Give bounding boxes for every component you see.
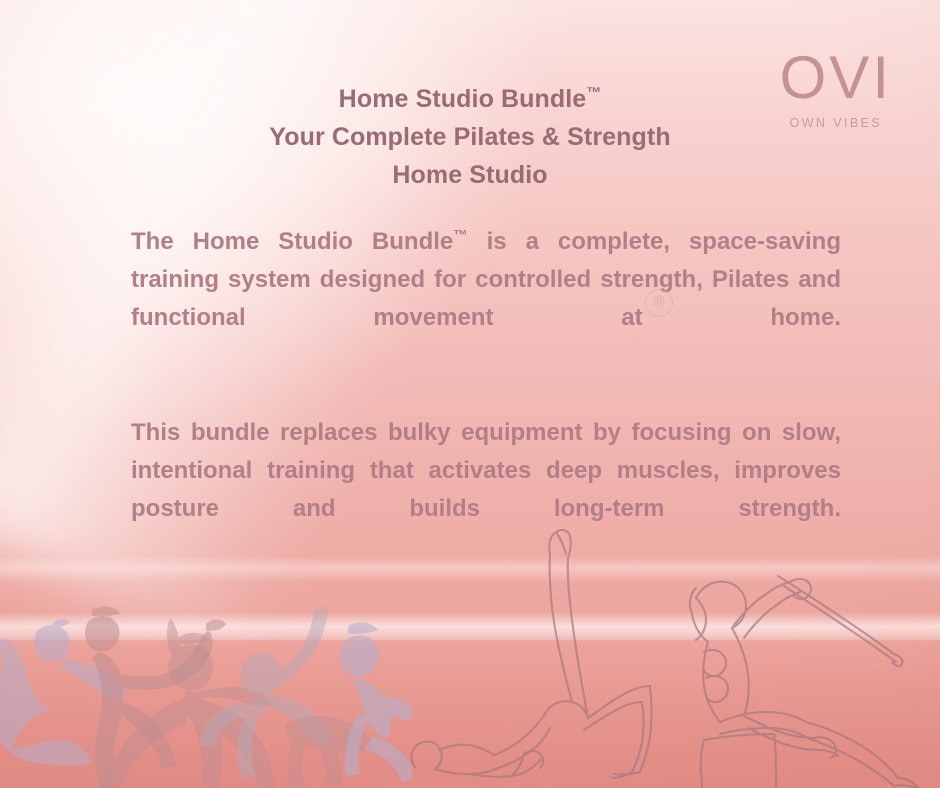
headline-line-3: Home Studio	[0, 156, 940, 194]
trademark-symbol: ™	[586, 85, 601, 102]
headline-line-1: Home Studio Bundle™	[0, 80, 940, 118]
headline-line-1-text: Home Studio Bundle	[339, 85, 587, 113]
trademark-symbol-body: ™	[453, 228, 467, 244]
body-paragraph-2: This bundle replaces bulky equipment by …	[131, 414, 841, 567]
headline: Home Studio Bundle™ Your Complete Pilate…	[0, 80, 940, 194]
registered-mark-watermark: ®	[645, 289, 673, 317]
body-paragraph-1-before: The Home Studio Bundle	[131, 228, 453, 255]
body-paragraph-1: The Home Studio Bundle™ is a complete, s…	[131, 223, 841, 376]
body-copy: The Home Studio Bundle™ is a complete, s…	[131, 223, 841, 566]
promo-graphic: OVI OWN VIBES Home Studio Bundle™ Your C…	[0, 0, 940, 788]
headline-line-2: Your Complete Pilates & Strength	[0, 118, 940, 156]
